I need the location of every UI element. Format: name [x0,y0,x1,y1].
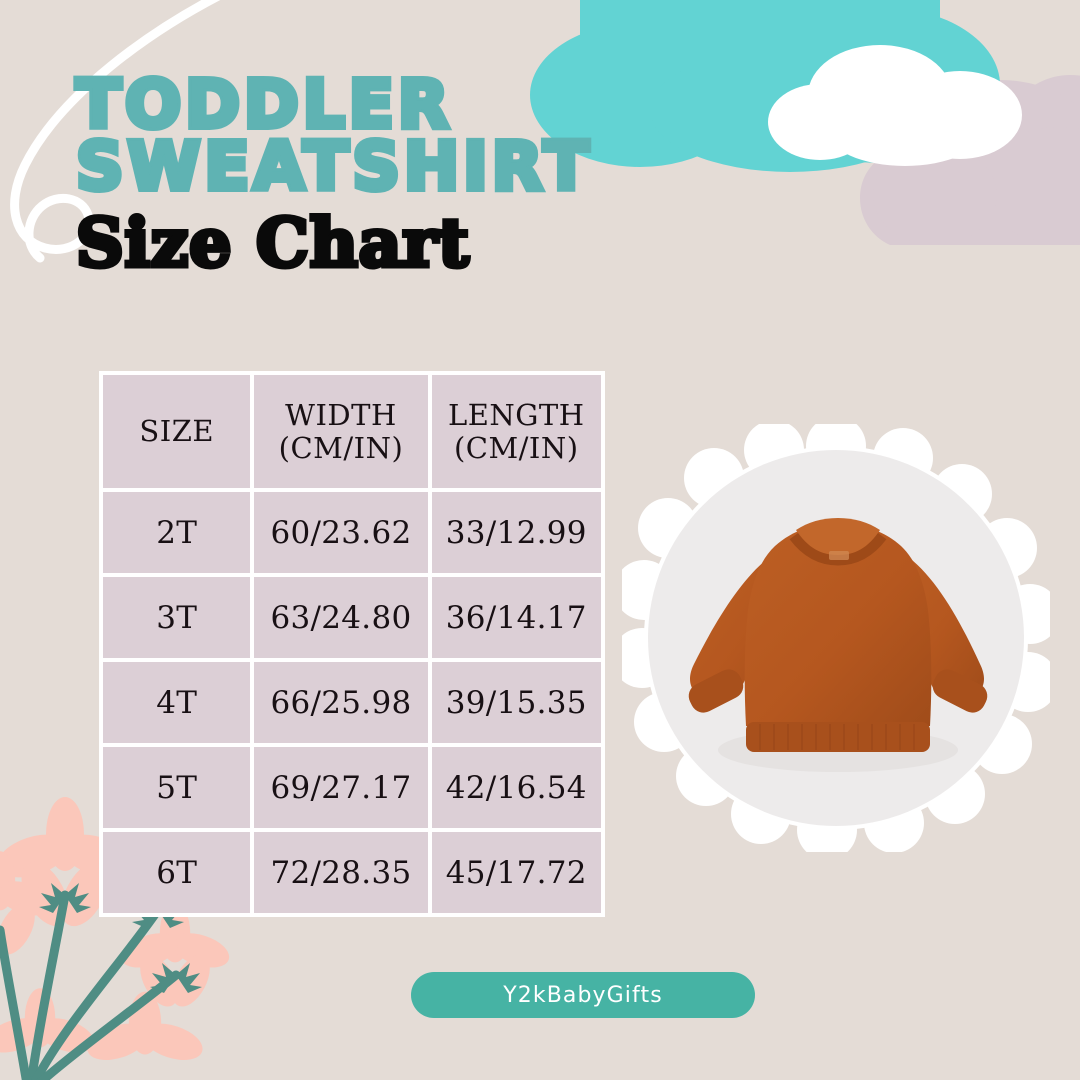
column-header-width: WIDTH (CM/IN) [254,375,427,488]
brand-name: Y2kBabyGifts [503,983,663,1008]
column-header-size: SIZE [103,375,250,488]
column-header-length-line1: LENGTH [432,399,601,431]
column-header-length: LENGTH (CM/IN) [432,375,601,488]
cell-width: 66/25.98 [254,662,427,743]
cell-size: 3T [103,577,250,658]
sweatshirt-illustration [648,450,1024,826]
cell-width: 63/24.80 [254,577,427,658]
cell-size: 4T [103,662,250,743]
column-header-width-line1: WIDTH [254,399,427,431]
title-line-2: SWEATSHIRT [76,136,816,198]
page-title: TODDLER SWEATSHIRT Size Chart [76,74,816,276]
column-header-length-line2: (CM/IN) [432,432,601,464]
table-row: 5T 69/27.17 42/16.54 [103,747,601,828]
table-row: 3T 63/24.80 36/14.17 [103,577,601,658]
brand-badge: Y2kBabyGifts [411,972,755,1018]
subtitle: Size Chart [76,210,816,276]
column-header-width-line2: (CM/IN) [254,432,427,464]
size-chart-poster: TODDLER SWEATSHIRT Size Chart SIZE WIDTH… [0,0,1080,1080]
cell-size: 2T [103,492,250,573]
cell-width: 60/23.62 [254,492,427,573]
cell-width: 72/28.35 [254,832,427,913]
cell-size: 6T [103,832,250,913]
table-row: 4T 66/25.98 39/15.35 [103,662,601,743]
cloud-mauve-icon [860,75,1080,245]
table-row: 6T 72/28.35 45/17.72 [103,832,601,913]
cell-length: 42/16.54 [432,747,601,828]
cell-length: 45/17.72 [432,832,601,913]
title-line-1: TODDLER [76,74,816,136]
cell-length: 33/12.99 [432,492,601,573]
cell-length: 36/14.17 [432,577,601,658]
size-chart-table: SIZE WIDTH (CM/IN) LENGTH (CM/IN) 2T 60/… [99,371,605,917]
cell-size: 5T [103,747,250,828]
table-row: 2T 60/23.62 33/12.99 [103,492,601,573]
cell-width: 69/27.17 [254,747,427,828]
product-photo [622,424,1050,852]
table-header-row: SIZE WIDTH (CM/IN) LENGTH (CM/IN) [103,375,601,488]
product-photo-circle [648,450,1024,826]
cell-length: 39/15.35 [432,662,601,743]
column-header-size-line1: SIZE [103,415,250,447]
